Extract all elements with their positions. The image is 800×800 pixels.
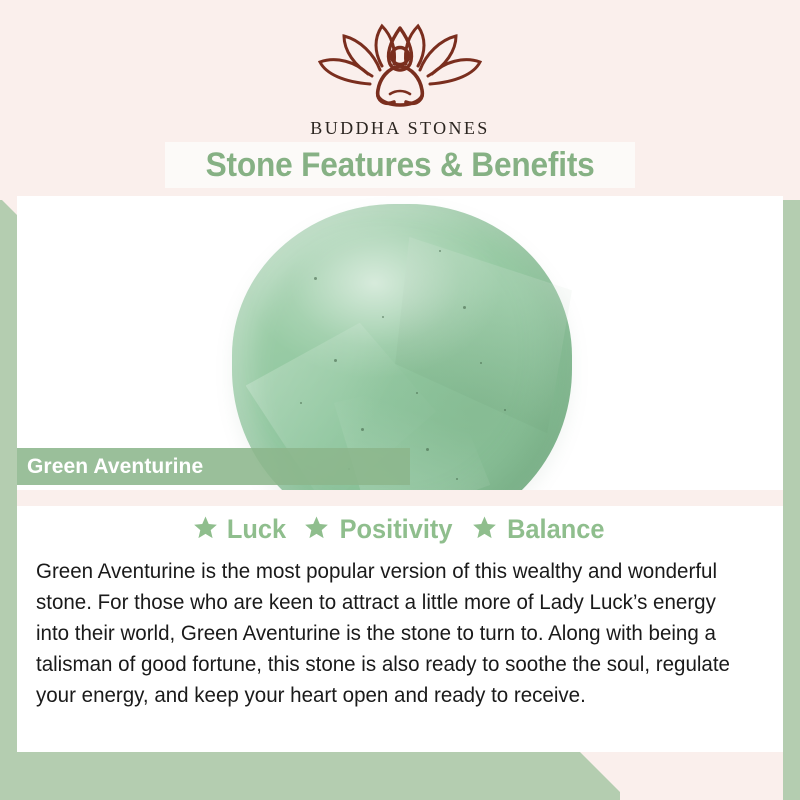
star-icon [472, 515, 497, 544]
decorative-band-bottom [0, 752, 620, 800]
decorative-band-left [0, 198, 17, 800]
lotus-meditation-figure-icon [310, 22, 490, 114]
panel-separator [17, 490, 783, 506]
stone-facet [395, 237, 572, 442]
benefit-item-positivity: Positivity [304, 514, 456, 545]
star-icon [193, 515, 218, 544]
page-title: Stone Features & Benefits [206, 146, 595, 185]
benefit-label: Positivity [339, 514, 452, 545]
stone-name-text: Green Aventurine [27, 455, 203, 479]
title-banner: Stone Features & Benefits [165, 142, 635, 188]
stone-name-label: Green Aventurine [17, 448, 410, 485]
benefit-item-balance: Balance [472, 514, 608, 545]
description-panel: Luck Positivity Balance Green Aventurine… [17, 506, 783, 752]
stone-photo-panel [17, 196, 783, 490]
benefits-list: Luck Positivity Balance [17, 514, 783, 545]
benefit-label: Luck [227, 514, 286, 545]
brand-logo: BUDDHA STONES [0, 22, 800, 139]
poster-canvas: BUDDHA STONES Stone Features & Benefits [0, 0, 800, 800]
stone-description-text: Green Aventurine is the most popular ver… [36, 556, 743, 711]
star-icon [304, 515, 329, 544]
benefit-label: Balance [507, 514, 604, 545]
brand-name: BUDDHA STONES [0, 118, 800, 139]
header-section: BUDDHA STONES Stone Features & Benefits [0, 0, 800, 200]
benefit-item-luck: Luck [193, 514, 288, 545]
